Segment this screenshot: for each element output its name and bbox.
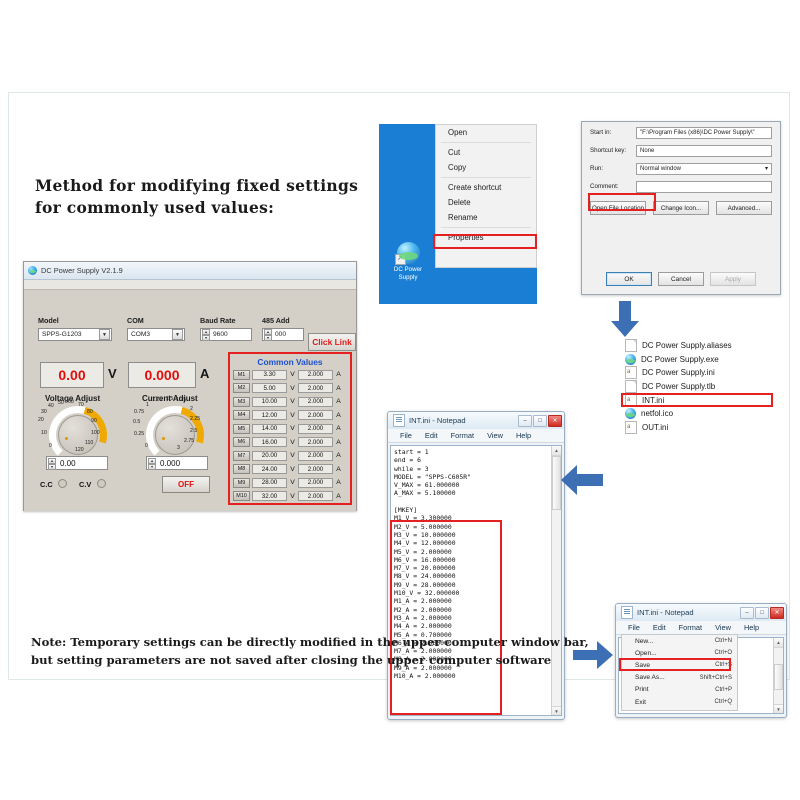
notepad-window-int-ini: INT.ini - Notepad – □ ✕ File Edit Format… <box>387 411 565 720</box>
file-name: DC Power Supply.ini <box>642 368 715 377</box>
memory-voltage-unit: V <box>289 412 296 419</box>
memory-voltage-input[interactable]: 24.00 <box>252 464 287 474</box>
cc-indicator <box>58 479 67 488</box>
desktop-area: Open Cut Copy Create shortcut Delete Ren… <box>379 124 537 304</box>
comment-input[interactable] <box>636 181 772 193</box>
memory-current-input[interactable]: 2.000 <box>298 383 333 393</box>
current-tick: 0.5 <box>133 419 140 425</box>
voltage-tick: 30 <box>41 409 47 415</box>
current-tick: 2 <box>190 406 193 412</box>
highlight-properties <box>433 234 537 249</box>
psu-body: Model SPPS-G1203 ▼ COM COM3 ▼ Baud Rate … <box>24 290 356 511</box>
current-tick: 2.5 <box>190 428 197 434</box>
address-stepper[interactable]: ▲▼ <box>264 329 272 340</box>
current-stepper[interactable]: ▲▼ <box>148 458 156 469</box>
current-setpoint-value: 0.000 <box>156 459 180 468</box>
memory-current-unit: A <box>335 412 342 419</box>
memory-voltage-unit: V <box>289 493 296 500</box>
shortcut-key-row: Shortcut key: None <box>590 143 772 158</box>
memory-current-unit: A <box>335 452 342 459</box>
file-menu-shortcut: Ctrl+P <box>715 687 732 693</box>
voltage-tick: 90 <box>91 418 97 424</box>
voltage-stepper[interactable]: ▲▼ <box>48 458 56 469</box>
common-value-row: M25.00V2.000A <box>233 382 347 396</box>
cv-indicator <box>97 479 106 488</box>
shortcut-arrow-icon: ↗ <box>395 254 406 265</box>
voltage-tick: 100 <box>91 430 100 436</box>
current-tick: 1.75 <box>176 397 186 403</box>
memory-button-m6[interactable]: M6 <box>233 437 250 447</box>
scrollbar-thumb[interactable] <box>774 664 783 690</box>
file-name: DC Power Supply.tlb <box>642 382 715 391</box>
desktop-icon-label: DC Power Supply <box>387 266 429 281</box>
start-in-row: Start in: "F:\Program Files (x86)\DC Pow… <box>590 125 772 140</box>
memory-current-unit: A <box>335 493 342 500</box>
current-tick: 1.25 <box>152 397 162 403</box>
menu-format[interactable]: Format <box>451 431 474 440</box>
run-row: Run: Normal window ▾ <box>590 161 772 176</box>
notepad-text-area[interactable]: start = 1 end = 6 while = 3 MODEL = "SPP… <box>390 445 562 716</box>
notepad-menubar: File Edit Format View Help <box>616 621 786 635</box>
common-value-row: M13.30V2.000A <box>233 368 347 382</box>
memory-button-m8[interactable]: M8 <box>233 464 250 474</box>
current-tick: 0.75 <box>134 409 144 415</box>
memory-voltage-unit: V <box>289 439 296 446</box>
baud-rate-input[interactable]: ▲▼ 9600 <box>200 328 252 341</box>
file-row[interactable]: DC Power Supply.ini <box>625 366 783 380</box>
comment-label: Comment: <box>590 183 636 190</box>
file-name: netfol.ico <box>641 409 673 418</box>
notepad-titlebar: INT.ini - Notepad – □ ✕ <box>388 412 564 429</box>
run-select[interactable]: Normal window ▾ <box>636 163 772 175</box>
window-controls: – □ ✕ <box>740 607 784 619</box>
note-text: Note: Temporary settings can be directly… <box>31 633 611 669</box>
file-rows: DC Power Supply.aliasesDC Power Supply.e… <box>625 339 783 434</box>
exe-file-icon <box>625 408 636 419</box>
file-row[interactable]: DC Power Supply.aliases <box>625 339 783 353</box>
notepad-icon <box>393 414 405 427</box>
menu-edit[interactable]: Edit <box>653 623 666 632</box>
highlight-int-ini <box>621 393 773 407</box>
menu-view[interactable]: View <box>487 431 503 440</box>
voltage-tick: 80 <box>87 409 93 415</box>
file-menu-label: Print <box>635 686 649 693</box>
voltage-tick: 50 <box>58 400 64 406</box>
cc-label: C.C <box>40 480 53 489</box>
current-readout-unit: A <box>200 366 209 381</box>
minimize-button[interactable]: – <box>518 415 532 427</box>
notepad-scrollbar[interactable]: ▲ ▼ <box>551 446 561 715</box>
notepad-title: INT.ini - Notepad <box>409 416 514 425</box>
menu-edit[interactable]: Edit <box>425 431 438 440</box>
file-menu-item-new[interactable]: New...Ctrl+N <box>622 635 737 647</box>
notepad-title: INT.ini - Notepad <box>637 608 736 617</box>
memory-button-m2[interactable]: M2 <box>233 383 250 393</box>
memory-current-input[interactable]: 2.000 <box>298 424 333 434</box>
file-row[interactable]: OUT.ini <box>625 421 783 435</box>
memory-current-input[interactable]: 2.000 <box>298 370 333 380</box>
memory-button-m5[interactable]: M5 <box>233 424 250 434</box>
run-label: Run: <box>590 165 636 172</box>
memory-voltage-unit: V <box>289 466 296 473</box>
voltage-tick: 60 <box>68 399 74 405</box>
voltage-readout: 0.00 <box>40 362 104 388</box>
dc-power-supply-globe-icon: ↗ <box>397 242 420 264</box>
voltage-tick: 0 <box>49 443 52 449</box>
output-toggle-button[interactable]: OFF <box>162 476 210 493</box>
current-readout: 0.000 <box>128 362 196 388</box>
memory-button-m9[interactable]: M9 <box>233 478 250 488</box>
memory-current-input[interactable]: 2.000 <box>298 397 333 407</box>
file-explorer-list: DC Power Supply.aliasesDC Power Supply.e… <box>625 339 783 435</box>
advanced-button[interactable]: Advanced... <box>716 201 772 215</box>
notepad-scrollbar[interactable]: ▲ ▼ <box>773 638 783 713</box>
file-menu-label: Exit <box>635 699 646 706</box>
file-menu-shortcut: Ctrl+N <box>715 638 732 644</box>
file-menu-label: Open... <box>635 650 657 657</box>
memory-voltage-unit: V <box>289 398 296 405</box>
voltage-tick: 110 <box>85 440 93 446</box>
file-menu-label: New... <box>635 638 653 645</box>
memory-current-input[interactable]: 2.000 <box>298 437 333 447</box>
memory-current-unit: A <box>335 439 342 446</box>
com-select[interactable]: COM3 ▼ <box>127 328 185 341</box>
voltage-tick: 120 <box>75 447 84 453</box>
memory-current-input[interactable]: 2.000 <box>298 451 333 461</box>
memory-voltage-input[interactable]: 3.30 <box>252 370 287 380</box>
close-button[interactable]: ✕ <box>548 415 562 427</box>
memory-current-input[interactable]: 2.000 <box>298 410 333 420</box>
memory-voltage-input[interactable]: 5.00 <box>252 383 287 393</box>
cancel-button[interactable]: Cancel <box>658 272 704 286</box>
maximize-button[interactable]: □ <box>755 607 769 619</box>
start-in-label: Start in: <box>590 129 636 136</box>
voltage-readout-unit: V <box>108 366 117 381</box>
voltage-setpoint-input[interactable]: ▲▼ 0.00 <box>46 456 108 470</box>
doc-file-icon <box>625 339 637 352</box>
memory-voltage-input[interactable]: 16.00 <box>252 437 287 447</box>
tutorial-page: Method for modifying fixed settings for … <box>8 92 790 680</box>
memory-button-m1[interactable]: M1 <box>233 370 250 380</box>
change-icon-button[interactable]: Change Icon... <box>653 201 709 215</box>
memory-current-unit: A <box>335 425 342 432</box>
memory-button-m4[interactable]: M4 <box>233 410 250 420</box>
memory-current-unit: A <box>335 371 342 378</box>
file-name: DC Power Supply.aliases <box>642 341 732 350</box>
ini-file-icon <box>625 421 637 434</box>
model-label: Model <box>38 316 59 325</box>
context-menu-item-rename[interactable]: Rename <box>436 210 536 225</box>
shortcut-key-input[interactable]: None <box>636 145 772 157</box>
scrollbar-thumb[interactable] <box>552 456 561 510</box>
close-button[interactable]: ✕ <box>770 607 784 619</box>
file-row[interactable]: netfol.ico <box>625 407 783 421</box>
memory-voltage-input[interactable]: 14.00 <box>252 424 287 434</box>
voltage-knob-indicator <box>65 437 68 440</box>
menu-help[interactable]: Help <box>516 431 531 440</box>
maximize-button[interactable]: □ <box>533 415 547 427</box>
common-value-row: M412.00V2.000A <box>233 409 347 423</box>
psu-window-title: DC Power Supply V2.1.9 <box>41 266 123 275</box>
file-name: DC Power Supply.exe <box>641 355 719 364</box>
voltage-tick: 20 <box>38 417 44 423</box>
memory-voltage-unit: V <box>289 479 296 486</box>
common-values-rows: M13.30V2.000AM25.00V2.000AM310.00V2.000A… <box>233 368 347 503</box>
baud-stepper[interactable]: ▲▼ <box>202 329 210 340</box>
current-tick: 3 <box>177 445 180 451</box>
com-value: COM3 <box>128 331 171 338</box>
chevron-down-icon: ▾ <box>765 165 768 172</box>
file-row[interactable]: DC Power Supply.exe <box>625 353 783 367</box>
address-label: 485 Add <box>262 316 290 325</box>
cv-label: C.V <box>79 480 91 489</box>
file-menu-shortcut: Ctrl+Q <box>714 699 732 705</box>
ok-button[interactable]: OK <box>606 272 652 286</box>
common-values-title: Common Values <box>233 356 347 368</box>
model-value: SPPS-G1203 <box>39 331 98 338</box>
page-title: Method for modifying fixed settings for … <box>35 175 385 219</box>
memory-voltage-input[interactable]: 32.00 <box>252 491 287 501</box>
current-knob-indicator <box>162 437 165 440</box>
comment-row: Comment: <box>590 179 772 194</box>
scroll-up-arrow-icon[interactable]: ▲ <box>552 446 561 456</box>
context-menu-item-create-shortcut[interactable]: Create shortcut <box>436 180 536 195</box>
current-tick: 1 <box>146 402 149 408</box>
file-menu-item-exit[interactable]: ExitCtrl+Q <box>622 696 737 708</box>
common-value-row: M616.00V2.000A <box>233 436 347 450</box>
memory-voltage-input[interactable]: 20.00 <box>252 451 287 461</box>
notepad-window-save-menu: INT.ini - Notepad – □ ✕ File Edit Format… <box>615 603 787 718</box>
chevron-down-icon[interactable]: ▼ <box>172 329 183 340</box>
file-menu-item-saveas[interactable]: Save As...Shift+Ctrl+S <box>622 672 737 684</box>
file-menu-label: Save As... <box>635 674 665 681</box>
file-menu-item-print[interactable]: PrintCtrl+P <box>622 684 737 696</box>
file-name: OUT.ini <box>642 423 668 432</box>
memory-button-m7[interactable]: M7 <box>233 451 250 461</box>
baud-rate-value: 9600 <box>210 331 251 338</box>
voltage-setpoint-value: 0.00 <box>56 459 76 468</box>
desktop-shortcut-dc-power-supply[interactable]: ↗ DC Power Supply <box>387 242 429 281</box>
memory-current-input[interactable]: 2.000 <box>298 478 333 488</box>
file-menu-shortcut: Ctrl+O <box>714 650 732 656</box>
memory-voltage-unit: V <box>289 425 296 432</box>
current-tick: 2.25 <box>190 416 200 422</box>
memory-current-input[interactable]: 2.000 <box>298 491 333 501</box>
scroll-up-arrow-icon[interactable]: ▲ <box>774 638 783 648</box>
menu-format[interactable]: Format <box>679 623 702 632</box>
context-menu-item-open[interactable]: Open <box>436 125 536 140</box>
common-value-row: M720.00V2.000A <box>233 449 347 463</box>
address-input[interactable]: ▲▼ 000 <box>262 328 304 341</box>
current-setpoint-input[interactable]: ▲▼ 0.000 <box>146 456 208 470</box>
file-menu-shortcut: Shift+Ctrl+S <box>700 675 732 681</box>
memory-current-input[interactable]: 2.000 <box>298 464 333 474</box>
click-link-button[interactable]: Click Link <box>308 333 356 351</box>
menu-separator <box>441 177 531 178</box>
common-value-row: M514.00V2.000A <box>233 422 347 436</box>
common-value-row: M1032.00V2.000A <box>233 490 347 504</box>
psu-titlebar: DC Power Supply V2.1.9 <box>24 262 356 280</box>
properties-footer: OK Cancel Apply <box>582 272 780 286</box>
notepad-titlebar: INT.ini - Notepad – □ ✕ <box>616 604 786 621</box>
context-menu-item-cut[interactable]: Cut <box>436 145 536 160</box>
doc-file-icon <box>625 380 637 393</box>
run-value: Normal window <box>640 166 681 172</box>
chevron-down-icon[interactable]: ▼ <box>99 329 110 340</box>
start-in-input[interactable]: "F:\Program Files (x86)\DC Power Supply\… <box>636 127 772 139</box>
address-value: 000 <box>272 331 303 338</box>
highlight-open-file-location <box>588 193 656 211</box>
scroll-down-arrow-icon[interactable]: ▼ <box>552 706 561 715</box>
menu-separator <box>441 227 531 228</box>
arrow-left-to-notepad <box>561 465 603 495</box>
shortcut-key-label: Shortcut key: <box>590 147 636 154</box>
memory-current-unit: A <box>335 385 342 392</box>
memory-button-m10[interactable]: M10 <box>233 491 250 501</box>
current-tick: 1.5 <box>166 396 173 402</box>
menu-help[interactable]: Help <box>744 623 759 632</box>
shortcut-properties-dialog: Start in: "F:\Program Files (x86)\DC Pow… <box>581 121 781 295</box>
memory-current-unit: A <box>335 479 342 486</box>
dc-power-supply-window: DC Power Supply V2.1.9 Model SPPS-G1203 … <box>23 261 357 511</box>
notepad-icon <box>621 606 633 619</box>
baud-rate-label: Baud Rate <box>200 316 236 325</box>
current-tick: 0 <box>145 443 148 449</box>
minimize-button[interactable]: – <box>740 607 754 619</box>
menu-view[interactable]: View <box>715 623 731 632</box>
memory-voltage-input[interactable]: 28.00 <box>252 478 287 488</box>
common-value-row: M824.00V2.000A <box>233 463 347 477</box>
menu-file[interactable]: File <box>400 431 412 440</box>
highlight-save <box>619 658 731 671</box>
com-label: COM <box>127 316 144 325</box>
menu-file[interactable]: File <box>628 623 640 632</box>
common-value-row: M928.00V2.000A <box>233 476 347 490</box>
arrow-down-to-files <box>607 301 643 339</box>
common-values-panel: Common Values M13.30V2.000AM25.00V2.000A… <box>228 352 352 505</box>
file-row[interactable]: DC Power Supply.tlb <box>625 380 783 394</box>
menu-separator <box>441 142 531 143</box>
memory-button-m3[interactable]: M3 <box>233 397 250 407</box>
window-controls: – □ ✕ <box>518 415 562 427</box>
current-tick: 2.75 <box>184 438 194 444</box>
model-select[interactable]: SPPS-G1203 ▼ <box>38 328 112 341</box>
ini-file-icon <box>625 366 637 379</box>
scroll-down-arrow-icon[interactable]: ▼ <box>774 704 783 713</box>
app-globe-icon <box>28 266 37 275</box>
current-tick: 0.25 <box>134 431 144 437</box>
context-menu-item-copy[interactable]: Copy <box>436 160 536 175</box>
memory-voltage-unit: V <box>289 371 296 378</box>
memory-voltage-unit: V <box>289 385 296 392</box>
file-dropdown-menu: New...Ctrl+NOpen...Ctrl+OSaveCtrl+SSave … <box>621 634 738 711</box>
context-menu-item-delete[interactable]: Delete <box>436 195 536 210</box>
memory-voltage-input[interactable]: 12.00 <box>252 410 287 420</box>
memory-voltage-input[interactable]: 10.00 <box>252 397 287 407</box>
memory-current-unit: A <box>335 466 342 473</box>
memory-current-unit: A <box>335 398 342 405</box>
notepad-menubar: File Edit Format View Help <box>388 429 564 443</box>
voltage-tick: 10 <box>41 430 47 436</box>
common-value-row: M310.00V2.000A <box>233 395 347 409</box>
psu-menu-strip <box>24 280 356 290</box>
exe-file-icon <box>625 354 636 365</box>
apply-button[interactable]: Apply <box>710 272 756 286</box>
voltage-tick: 40 <box>48 403 54 409</box>
voltage-tick: 70 <box>78 402 84 408</box>
memory-voltage-unit: V <box>289 452 296 459</box>
